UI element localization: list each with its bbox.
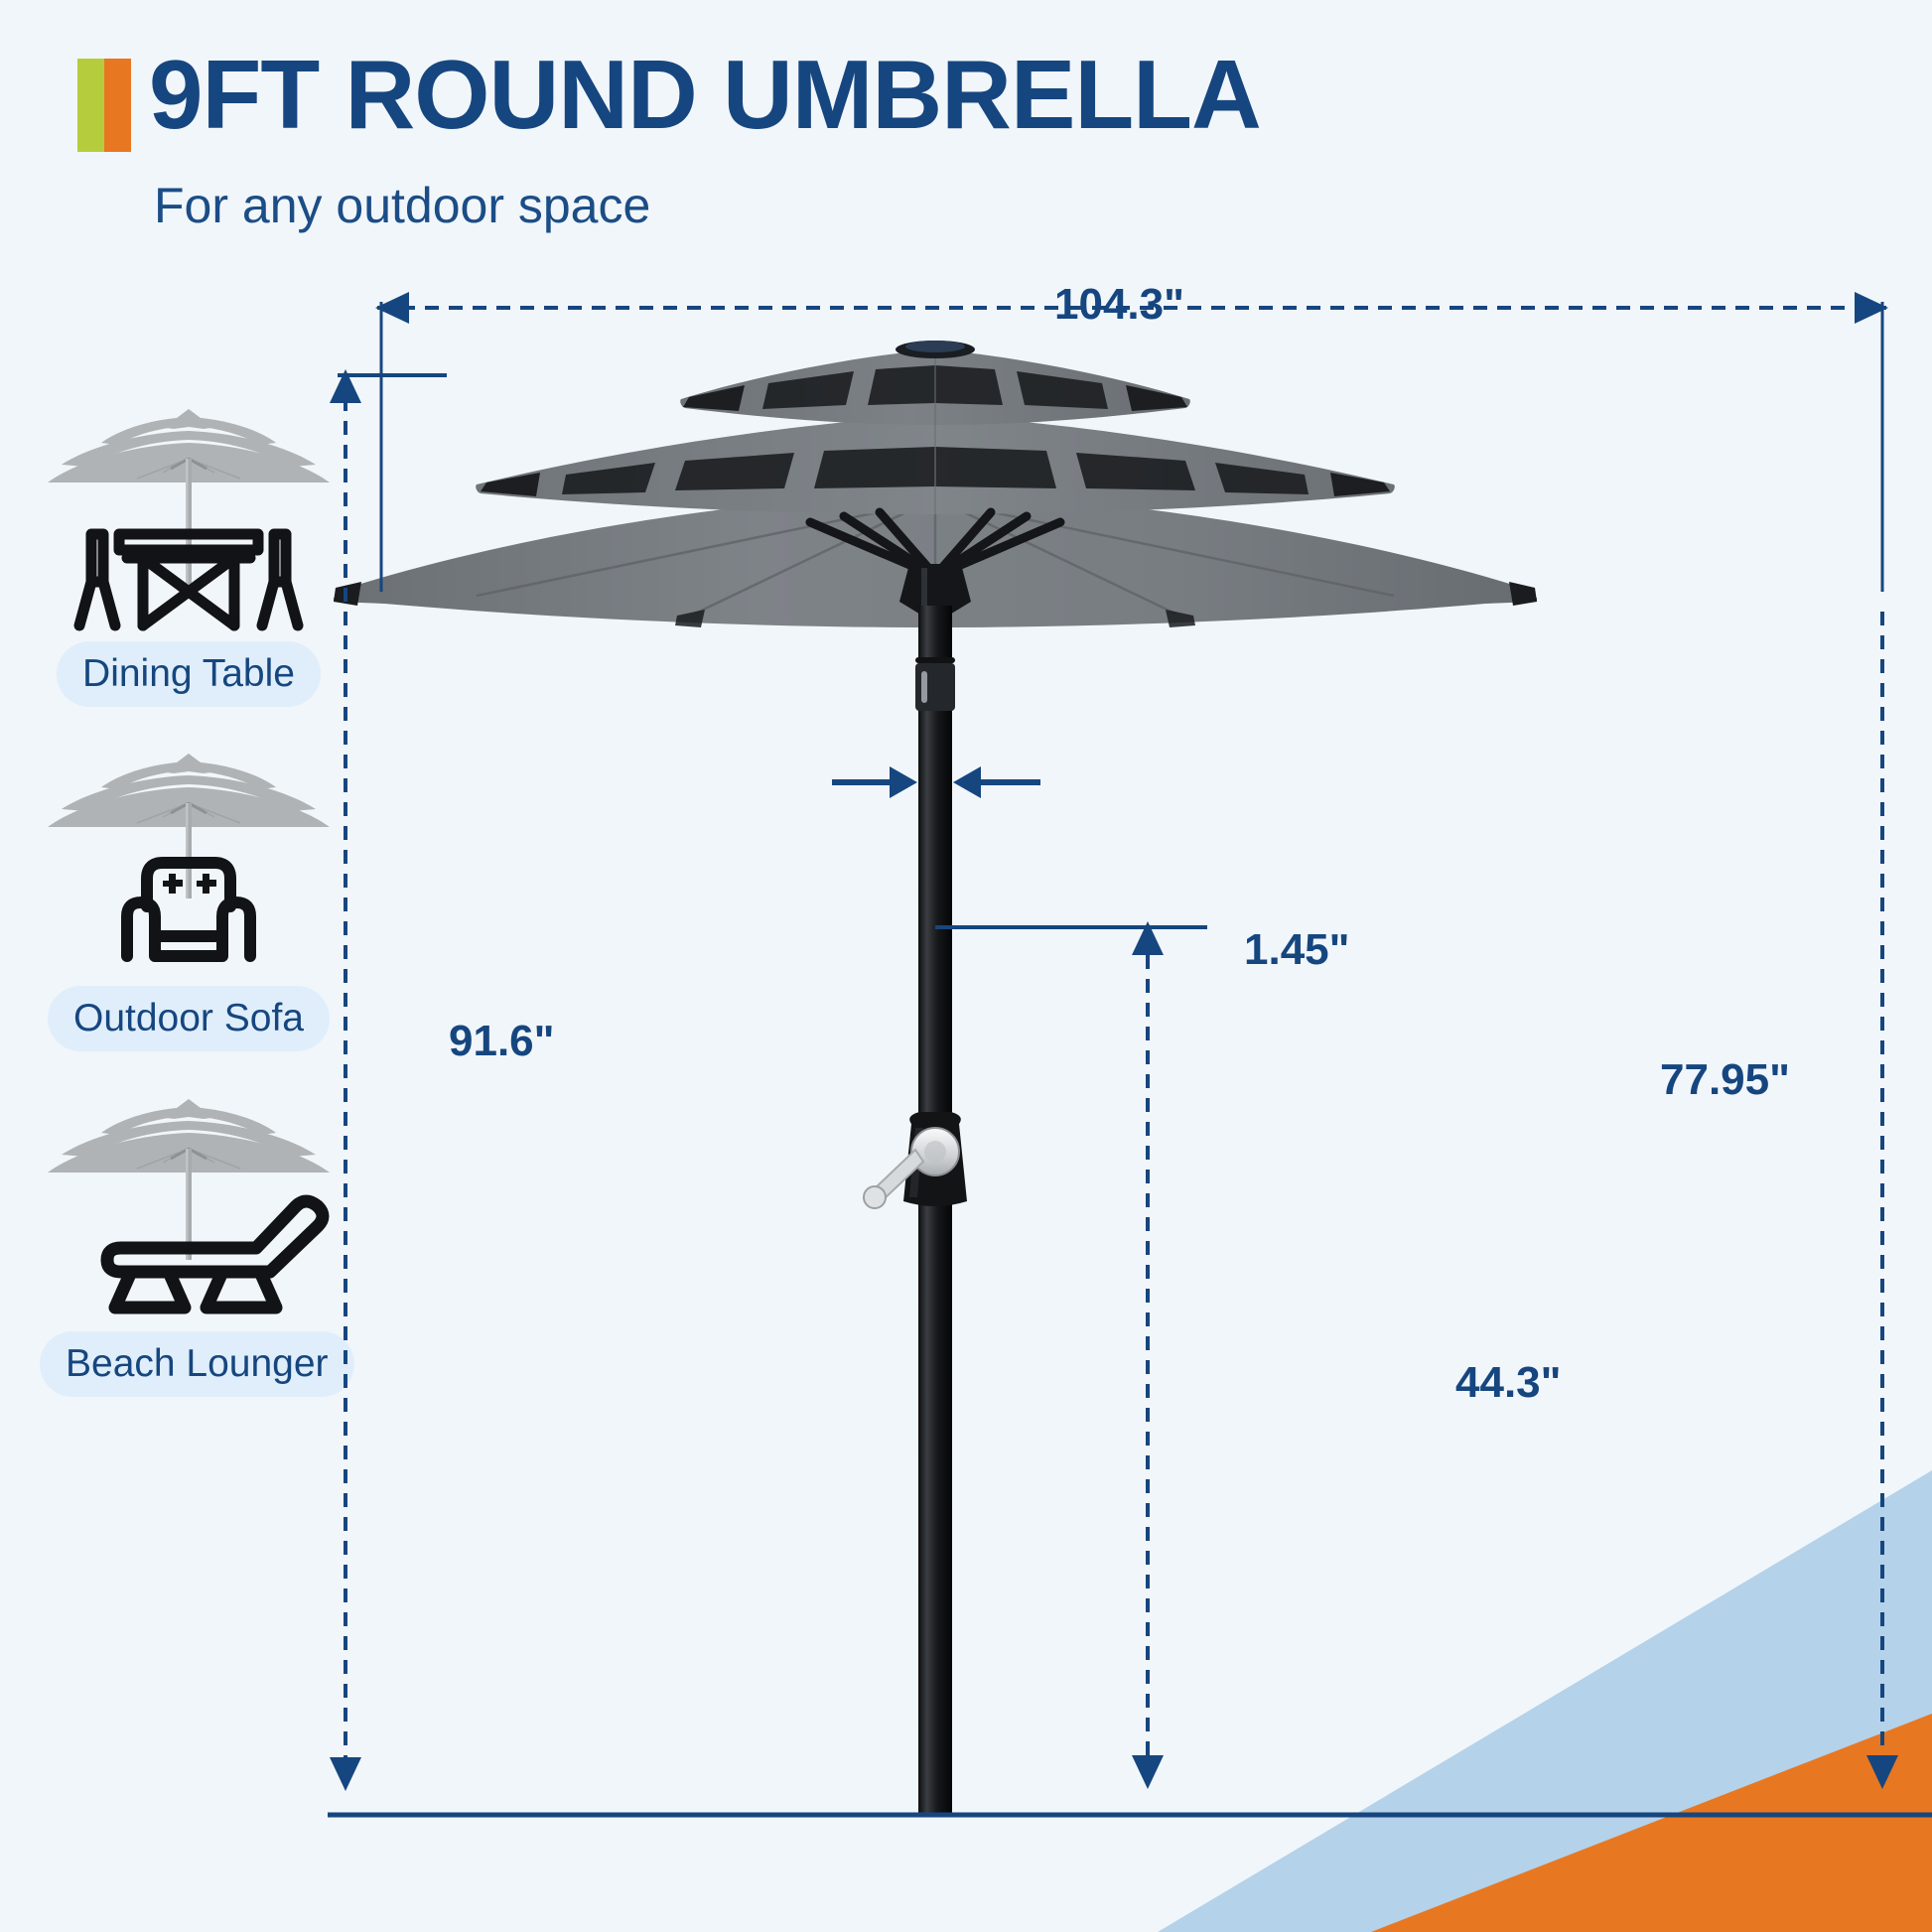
dimension-label-pole-diameter: 1.45" [1244,925,1350,975]
dimension-hub-height [935,921,1207,1789]
dimension-label-hub-height: 44.3" [1455,1358,1562,1408]
canopy-top-tier [680,349,1190,425]
dining-table-art [40,387,338,635]
outdoor-sofa-art [40,732,338,980]
usecase-label: Beach Lounger [66,1342,329,1386]
usecase-label-pill-outdoor-sofa: Outdoor Sofa [48,986,330,1051]
umbrella-silhouette [48,754,330,898]
umbrella-silhouette [48,1099,330,1260]
umbrella-pole [915,606,955,1815]
dimension-label-total-height: 91.6" [449,1017,555,1066]
usecase-dining-table: Dining Table [40,387,338,707]
beach-lounger-icon [40,1077,338,1325]
lounger-lineart [107,1201,323,1308]
title-row: 9FT ROUND UMBRELLA [77,46,1261,152]
accent-bar-orange [104,59,131,152]
pole-arrow-left [953,766,981,798]
usecase-outdoor-sofa: Outdoor Sofa [40,732,338,1051]
dimension-canopy-height [1866,612,1898,1789]
usecase-label: Outdoor Sofa [73,997,304,1040]
umbrella-finial [896,341,975,358]
accent-bar-green [77,59,104,152]
hub-height-arrow-bottom [1132,1755,1164,1789]
pole-arrow-right [890,766,917,798]
canopy-height-arrow-bottom [1866,1755,1898,1789]
accent-bars [77,59,131,152]
outdoor-sofa-icon [40,732,338,980]
crank-handle-tip [864,1186,886,1208]
usecase-label: Dining Table [82,652,295,696]
beach-lounger-art [40,1077,338,1325]
infographic-page: 9FT ROUND UMBRELLA For any outdoor space [0,0,1932,1932]
height-arrow-bottom [330,1757,361,1791]
canopy-middle-tier [476,415,1395,514]
dining-table-icon [40,387,338,635]
dimension-label-canopy-height: 77.95" [1660,1055,1790,1105]
page-title: 9FT ROUND UMBRELLA [149,46,1261,143]
page-subtitle: For any outdoor space [154,177,650,234]
usecase-label-pill-beach-lounger: Beach Lounger [40,1331,354,1397]
usecase-label-pill-dining-table: Dining Table [57,641,321,707]
crank-mechanism [864,1112,967,1208]
dimension-label-canopy-width: 104.3" [1054,280,1184,330]
usecase-beach-lounger: Beach Lounger [40,1077,338,1397]
